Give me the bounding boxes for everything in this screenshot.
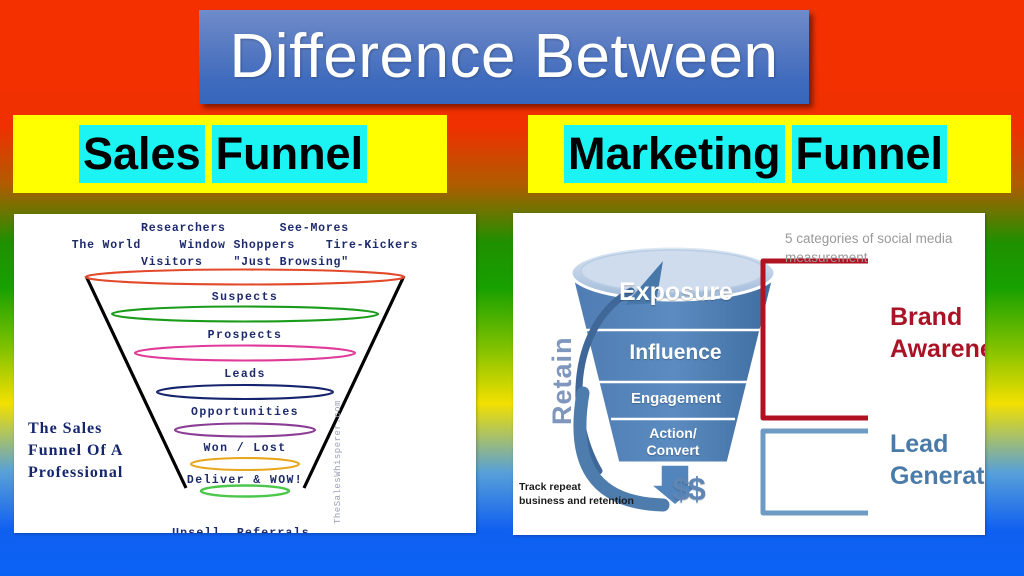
brand-awareness-bracket xyxy=(763,261,868,418)
page-title: Difference Between xyxy=(230,26,779,88)
heading-bar-sales-funnel: Sales Funnel xyxy=(13,115,447,193)
funnel-ring-prospects xyxy=(112,307,378,322)
track-repeat-note-line1: Track repeat xyxy=(519,480,651,494)
sales-funnel-stage-prospects: Prospects xyxy=(14,329,476,342)
marketing-stage-exposure: Exposure xyxy=(591,278,761,307)
marketing-funnel-panel: Exposure Influence Engagement Action/ Co… xyxy=(513,213,985,535)
lead-generation-bracket xyxy=(763,431,868,513)
marketing-stage-influence: Influence xyxy=(598,341,753,365)
marketing-stage-action-convert: Action/ Convert xyxy=(613,425,733,459)
lead-generation-line1: Lead xyxy=(890,428,985,460)
lead-generation-label: Lead Generation xyxy=(890,428,985,492)
sales-funnel-watermark: TheSalesWhisperer.com xyxy=(333,400,343,524)
heading-left-word1: Sales xyxy=(79,125,205,183)
sales-funnel-bottom-label-1: Upsell, Referrals, xyxy=(14,526,476,533)
track-repeat-note: Track repeat business and retention xyxy=(519,480,651,508)
funnel-ring-won-lost xyxy=(175,424,315,437)
marketing-stage-engagement: Engagement xyxy=(606,390,746,407)
funnel-ring-leads xyxy=(135,346,355,361)
funnel-ring-upsell xyxy=(201,486,289,497)
sales-funnel-caption: The Sales Funnel Of A Professional xyxy=(28,418,158,484)
brand-awareness-label: Brand Awareness xyxy=(890,301,985,365)
sales-funnel-bottom-labels: Upsell, Referrals, Testimonials, Fans! xyxy=(14,496,476,533)
lead-generation-line2: Generation xyxy=(890,460,985,492)
dollar-signs-icon: $$ xyxy=(653,471,723,508)
marketing-stage-action-line1: Action/ xyxy=(613,425,733,442)
track-repeat-note-line2: business and retention xyxy=(519,494,651,508)
heading-left-word2: Funnel xyxy=(212,125,367,183)
sales-funnel-stage-suspects: Suspects xyxy=(14,291,476,304)
brand-awareness-line2: Awareness xyxy=(890,333,985,365)
heading-bar-marketing-funnel: Marketing Funnel xyxy=(528,115,1011,193)
sales-funnel-stage-leads: Leads xyxy=(14,368,476,381)
funnel-ring-deliver-wow xyxy=(191,458,299,470)
marketing-funnel-note: 5 categories of social media measurement xyxy=(785,229,970,267)
heading-right-word1: Marketing xyxy=(564,125,785,183)
funnel-ring-opportunities xyxy=(157,385,333,399)
funnel-ring-suspects xyxy=(86,270,404,285)
brand-awareness-line1: Brand xyxy=(890,301,985,333)
marketing-stage-action-line2: Convert xyxy=(613,442,733,459)
sales-funnel-panel: Researchers See-Mores The World Window S… xyxy=(14,214,476,533)
page-title-box: Difference Between xyxy=(199,10,809,104)
heading-right-word2: Funnel xyxy=(792,125,947,183)
retain-label: Retain xyxy=(547,336,578,425)
